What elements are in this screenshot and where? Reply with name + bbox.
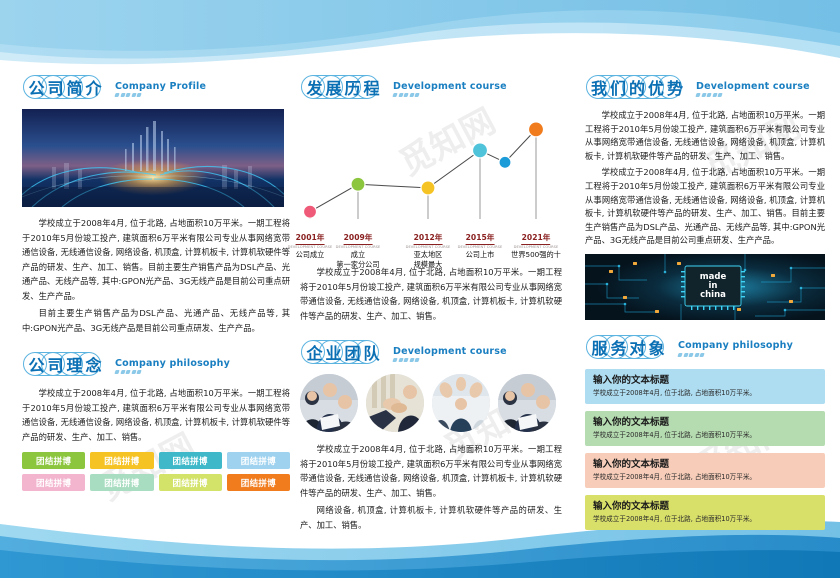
timeline-label-item: 2021年DEVELOPMENT COURSE世界500强的十 [511, 225, 561, 260]
decorative-dots [678, 353, 793, 357]
section-header-our-advantages: 我们的优势 Development course [585, 72, 825, 100]
timeline-year-en: DEVELOPMENT COURSE [511, 245, 561, 250]
philosophy-tag[interactable]: 团结拼博 [227, 452, 290, 469]
cloud-bubble-frame: 公司简介 [22, 74, 108, 100]
left-column: 公司简介 Company Profile [22, 72, 290, 491]
center-column: 发展历程 Development course 2001年DEVELOPMENT… [300, 72, 562, 535]
cloud-bubble-frame: 我们的优势 [585, 74, 689, 100]
section-title-en: Development course [393, 82, 507, 92]
philosophy-tag[interactable]: 团结拼博 [90, 474, 153, 491]
timeline-label-item: 2015年DEVELOPMENT COURSE公司上市 [458, 225, 503, 260]
decorative-dots [696, 93, 810, 97]
timeline-desc: 世界500强的十 [511, 250, 561, 260]
timeline-year: 2012年 [414, 232, 443, 245]
service-box[interactable]: 输入你的文本标题 学校成立于2008年4月, 位于北路, 占地面积10万平米。 [585, 495, 825, 530]
section-en-block: Development course [696, 82, 810, 101]
advantages-paragraph-1: 学校成立于2008年4月, 位于北路, 占地面积10万平米。一期工程将于2010… [585, 109, 825, 163]
section-title-en: Company Profile [115, 82, 206, 92]
cloud-bubble-frame: 服务对象 [585, 334, 671, 360]
cloud-bubble-frame: 企业团队 [300, 339, 386, 365]
team-handshake-photo-2 [366, 374, 424, 432]
timeline-year: 2001年 [296, 232, 325, 245]
section-en-block: Development course [393, 347, 507, 366]
decorative-dots [393, 358, 507, 362]
service-box-title: 输入你的文本标题 [593, 500, 817, 513]
cloud-bubble-frame: 公司理念 [22, 351, 108, 377]
philosophy-tag[interactable]: 团结拼博 [22, 452, 85, 469]
team-meeting-photo-4 [498, 374, 556, 432]
decorative-dots [115, 93, 206, 97]
made-in-china-chip-photo: made in china [585, 254, 825, 320]
service-box[interactable]: 输入你的文本标题 学校成立于2008年4月, 位于北路, 占地面积10万平米。 [585, 369, 825, 404]
philosophy-tag[interactable]: 团结拼博 [90, 452, 153, 469]
section-title-en: Company philosophy [115, 359, 230, 369]
cloud-bubble-frame: 发展历程 [300, 74, 386, 100]
section-header-company-profile: 公司简介 Company Profile [22, 72, 290, 100]
service-box[interactable]: 输入你的文本标题 学校成立于2008年4月, 位于北路, 占地面积10万平米。 [585, 411, 825, 446]
team-photo-row [300, 374, 562, 432]
development-paragraph-1: 学校成立于2008年4月, 位于北路, 占地面积10万平米。一期工程将于2010… [300, 265, 562, 323]
service-box-title: 输入你的文本标题 [593, 374, 817, 387]
section-en-block: Development course [393, 82, 507, 101]
philosophy-tag[interactable]: 团结拼博 [22, 474, 85, 491]
section-title-cn: 发展历程 [300, 74, 386, 100]
svg-text:china: china [700, 290, 726, 300]
service-box-title: 输入你的文本标题 [593, 416, 817, 429]
decorative-dots [393, 93, 507, 97]
service-box-desc: 学校成立于2008年4月, 位于北路, 占地面积10万平米。 [593, 472, 817, 482]
company-profile-paragraph-2: 目前主要生产销售产品为DSL产品、光通产品、无线产品等, 其中:GPON光产品、… [22, 306, 290, 335]
timeline-label-row: 2001年DEVELOPMENT COURSE公司成立2009年DEVELOPM… [300, 225, 562, 259]
team-highfive-photo-3 [432, 374, 490, 432]
timeline-label-item: 2012年DEVELOPMENT COURSE亚太地区规模最大 [406, 225, 451, 270]
timeline-year: 2009年 [344, 232, 373, 245]
timeline-desc: 公司上市 [458, 250, 503, 260]
brochure-page: 觅知网 觅知网 觅知网 觅知网 觅知网 公司简介 Company Profile [0, 0, 840, 578]
decorative-dots [115, 370, 230, 374]
philosophy-tag-grid: 团结拼博 团结拼博 团结拼博 团结拼博 团结拼博 团结拼博 团结拼博 团结拼博 [22, 452, 290, 491]
city-night-network-photo [22, 109, 284, 207]
section-title-cn: 公司理念 [22, 351, 108, 377]
section-title-en: Company philosophy [678, 341, 793, 351]
timeline-year-en: DEVELOPMENT COURSE [336, 245, 381, 250]
service-box-desc: 学校成立于2008年4月, 位于北路, 占地面积10万平米。 [593, 388, 817, 398]
timeline-year: 2015年 [466, 232, 495, 245]
timeline-year-en: DEVELOPMENT COURSE [406, 245, 451, 250]
section-title-cn: 公司简介 [22, 74, 108, 100]
timeline-desc: 亚太地区 [406, 250, 451, 260]
timeline-desc-2: 第一家分公司 [336, 260, 381, 270]
section-title-cn: 我们的优势 [585, 74, 689, 100]
top-wave-decoration [0, 0, 840, 72]
service-box-title: 输入你的文本标题 [593, 458, 817, 471]
section-header-enterprise-team: 企业团队 Development course [300, 337, 562, 365]
advantages-paragraph-2: 学校成立于2008年4月, 位于北路, 占地面积10万平米。一期工程将于2010… [585, 166, 825, 248]
section-title-en: Development course [696, 82, 810, 92]
service-box-desc: 学校成立于2008年4月, 位于北路, 占地面积10万平米。 [593, 514, 817, 524]
section-title-en: Development course [393, 347, 507, 357]
timeline-year-en: DEVELOPMENT COURSE [458, 245, 503, 250]
timeline-year: 2021年 [522, 232, 551, 245]
section-en-block: Company Profile [115, 82, 206, 101]
philosophy-tag[interactable]: 团结拼博 [159, 452, 222, 469]
section-en-block: Company philosophy [678, 341, 793, 360]
company-philosophy-paragraph-1: 学校成立于2008年4月, 位于北路, 占地面积10万平米。一期工程将于2010… [22, 386, 290, 444]
service-box[interactable]: 输入你的文本标题 学校成立于2008年4月, 位于北路, 占地面积10万平米。 [585, 453, 825, 488]
timeline-label-item: 2009年DEVELOPMENT COURSE成立第一家分公司 [336, 225, 381, 270]
team-meeting-photo-1 [300, 374, 358, 432]
team-paragraph-2: 网络设备, 机顶盒, 计算机板卡, 计算机软硬件等产品的研发、生产、加工、销售。 [300, 503, 562, 532]
service-box-desc: 学校成立于2008年4月, 位于北路, 占地面积10万平米。 [593, 430, 817, 440]
timeline-desc-2: 规模最大 [406, 260, 451, 270]
section-header-service-objects: 服务对象 Company philosophy [585, 332, 825, 360]
section-title-cn: 服务对象 [585, 334, 671, 360]
section-title-cn: 企业团队 [300, 339, 386, 365]
section-en-block: Company philosophy [115, 359, 230, 378]
timeline-desc: 公司成立 [288, 250, 333, 260]
timeline-year-en: DEVELOPMENT COURSE [288, 245, 333, 250]
right-column: 我们的优势 Development course 学校成立于2008年4月, 位… [585, 72, 825, 537]
timeline-label-item: 2001年DEVELOPMENT COURSE公司成立 [288, 225, 333, 260]
section-header-company-philosophy: 公司理念 Company philosophy [22, 349, 290, 377]
company-profile-paragraph-1: 学校成立于2008年4月, 位于北路, 占地面积10万平米。一期工程将于2010… [22, 216, 290, 303]
team-paragraph-1: 学校成立于2008年4月, 位于北路, 占地面积10万平米。一期工程将于2010… [300, 442, 562, 500]
philosophy-tag[interactable]: 团结拼博 [227, 474, 290, 491]
timeline-desc: 成立 [336, 250, 381, 260]
section-header-development-course: 发展历程 Development course [300, 72, 562, 100]
philosophy-tag[interactable]: 团结拼博 [159, 474, 222, 491]
development-timeline-chart [300, 107, 562, 225]
